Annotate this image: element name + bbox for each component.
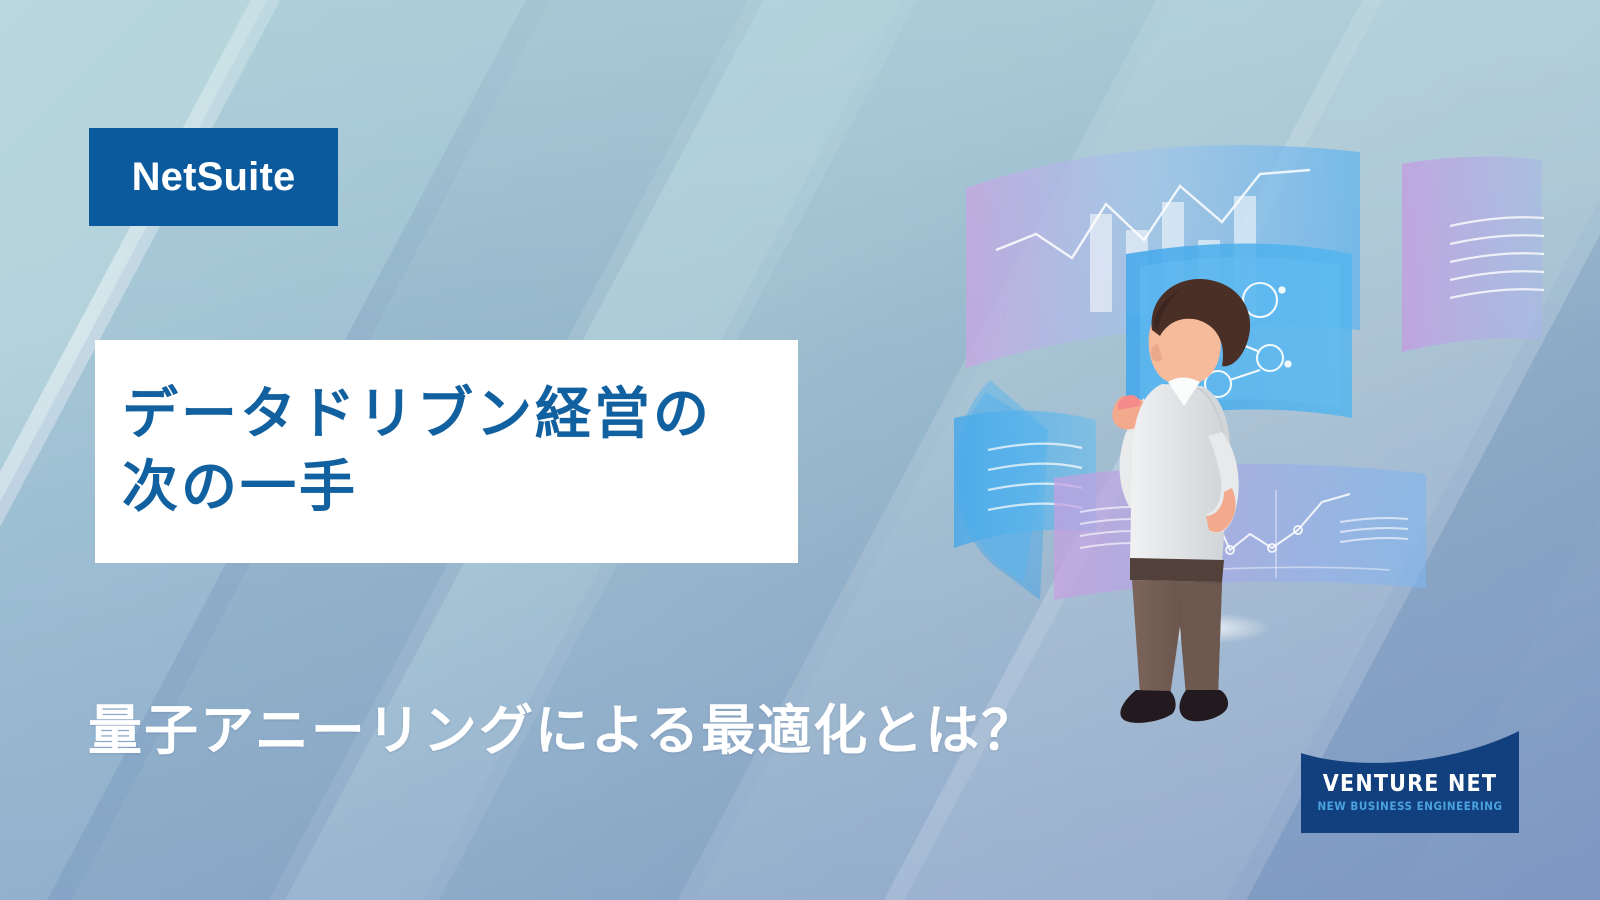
netsuite-badge-label: NetSuite <box>132 155 296 200</box>
page-title-line-2: 次の一手 <box>122 452 798 525</box>
netsuite-badge: NetSuite <box>89 128 338 226</box>
hero-banner: NetSuite データドリブン経営の 次の一手 量子アニーリングによる最適化と… <box>0 0 1600 900</box>
page-subtitle: 量子アニーリングによる最適化とは？ <box>88 686 1037 765</box>
line-chart-screen <box>1054 464 1426 600</box>
logo-tagline: NEW BUSINESS ENGINEERING <box>1301 799 1519 813</box>
title-card: データドリブン経営の 次の一手 <box>95 340 798 563</box>
logo-name: VENTURE NET <box>1301 771 1519 797</box>
hero-illustration <box>930 130 1550 670</box>
page-title-line-1: データドリブン経営の <box>122 379 798 452</box>
venture-net-logo: VENTURE NET NEW BUSINESS ENGINEERING <box>1301 731 1519 833</box>
text-lines-screen <box>1402 157 1544 352</box>
